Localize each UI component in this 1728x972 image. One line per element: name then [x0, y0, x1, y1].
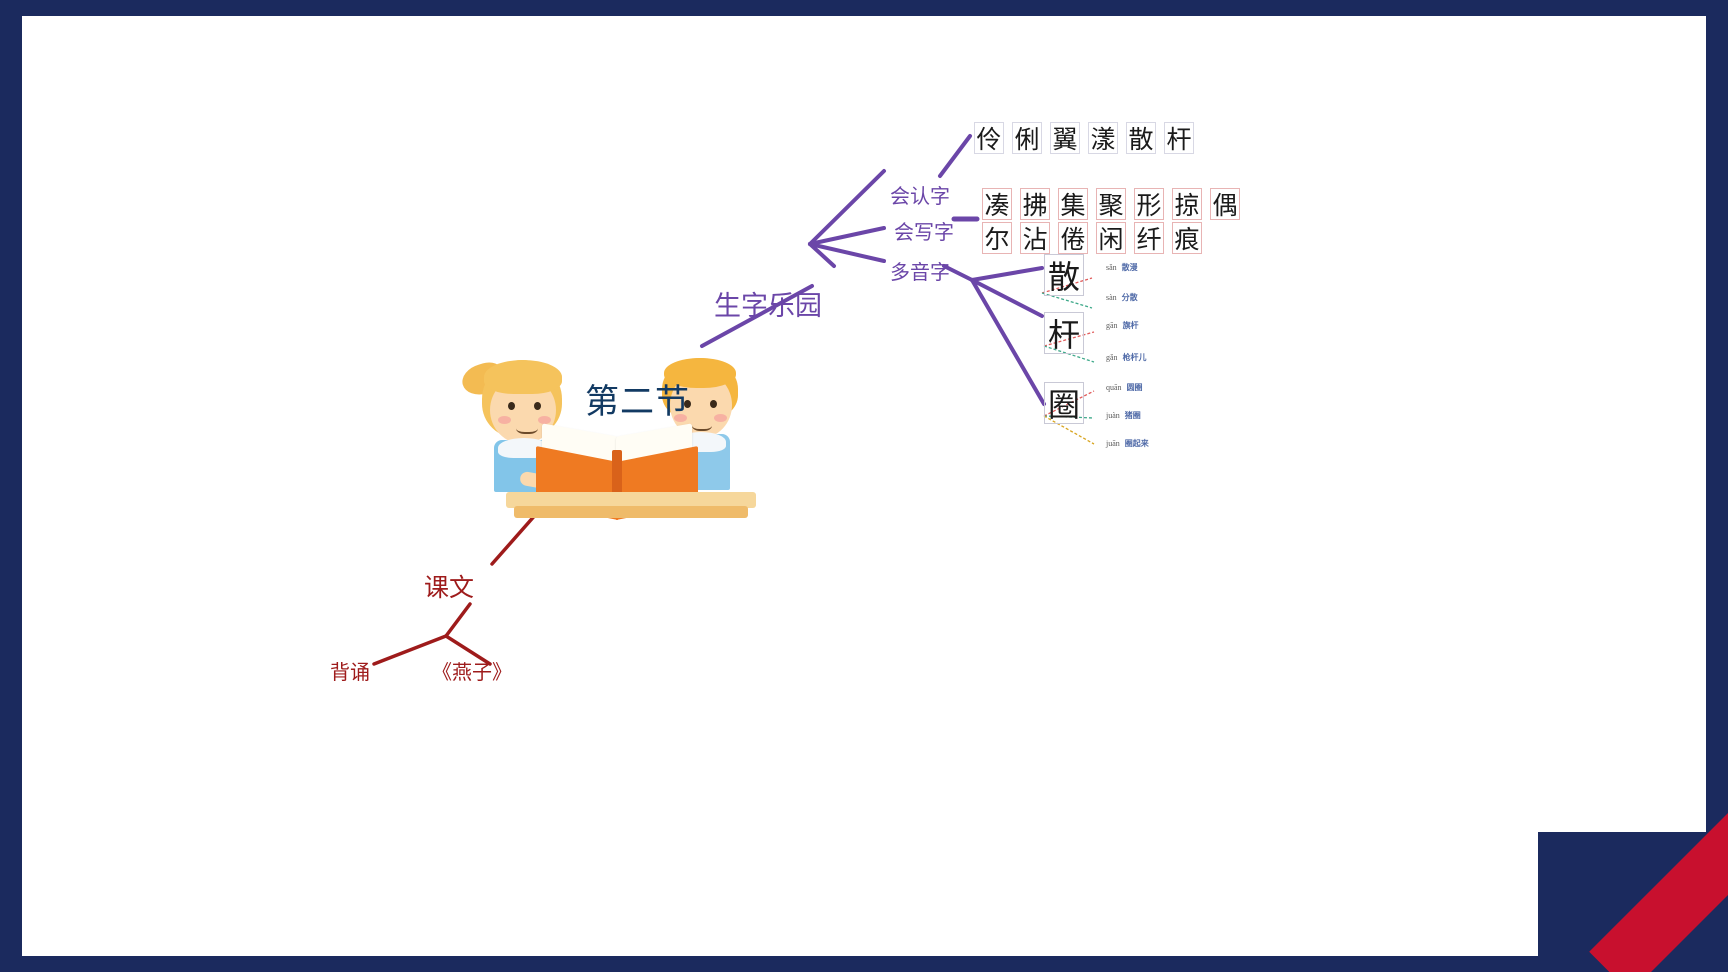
char-cell: 尔	[982, 222, 1012, 254]
branch-label-yanzi: 《燕子》	[432, 656, 512, 685]
pinyin-reading: gān旗杆	[1106, 320, 1139, 331]
pinyin-gloss: 圈起来	[1125, 439, 1149, 448]
illustration-kids-reading	[464, 346, 764, 526]
pinyin-text: juān	[1106, 439, 1120, 448]
char-cell: 漾	[1088, 122, 1118, 154]
branch-label-huixiezi: 会写字	[894, 216, 954, 245]
char-cell: 痕	[1172, 222, 1202, 254]
pinyin-gloss: 圆圈	[1127, 383, 1143, 392]
char-cell: 偶	[1210, 188, 1240, 220]
boy-cheek-right	[714, 414, 727, 422]
char-cell: 凑	[982, 188, 1012, 220]
char-cell: 闲	[1096, 222, 1126, 254]
polyphonic-char: 杆	[1044, 312, 1084, 354]
pinyin-text: sàn	[1106, 293, 1117, 302]
write-char-row-1: 凑 拂 集 聚 形 掠 偶	[982, 188, 1248, 220]
branch-label-beisong: 背诵	[330, 656, 370, 685]
desk-front	[514, 506, 748, 518]
pinyin-gloss: 猪圈	[1125, 411, 1141, 420]
polyphonic-group-san: 散 sǎn散漫 sàn分散	[1044, 254, 1092, 296]
page-title: 第二节	[585, 374, 690, 423]
pinyin-reading: juàn猪圈	[1106, 410, 1141, 421]
char-cell: 集	[1058, 188, 1088, 220]
char-cell: 聚	[1096, 188, 1126, 220]
char-cell: 掠	[1172, 188, 1202, 220]
branch-label-duoyinzi: 多音字	[890, 256, 950, 285]
pinyin-reading: juān圈起来	[1106, 438, 1149, 449]
boy-mouth	[692, 418, 712, 431]
polyphonic-char: 散	[1044, 254, 1084, 296]
slide-frame: 第二节 生字乐园 会认字 会写字 多音字 课文 背诵 《燕子》 伶 俐 翼 漾 …	[0, 0, 1728, 972]
mindmap-connectors	[22, 16, 1706, 956]
pinyin-reading: gǎn枪杆儿	[1106, 352, 1147, 363]
pinyin-gloss: 枪杆儿	[1123, 353, 1147, 362]
pinyin-reading: sàn分散	[1106, 292, 1138, 303]
girl-eye-right	[534, 402, 541, 410]
pinyin-gloss: 旗杆	[1123, 321, 1139, 330]
pinyin-reading: quān圆圈	[1106, 382, 1143, 393]
girl-mouth	[516, 420, 538, 434]
branch-label-kewen: 课文	[424, 568, 474, 604]
char-cell: 拂	[1020, 188, 1050, 220]
char-cell: 俐	[1012, 122, 1042, 154]
recognize-char-row: 伶 俐 翼 漾 散 杆	[974, 122, 1202, 154]
char-cell: 形	[1134, 188, 1164, 220]
char-cell: 纤	[1134, 222, 1164, 254]
pinyin-gloss: 分散	[1122, 293, 1138, 302]
branch-label-huirenzi: 会认字	[890, 180, 950, 209]
pinyin-text: juàn	[1106, 411, 1120, 420]
girl-bangs	[484, 360, 562, 394]
pinyin-text: gǎn	[1106, 353, 1118, 362]
char-cell: 散	[1126, 122, 1156, 154]
girl-eye-left	[508, 402, 515, 410]
char-cell: 伶	[974, 122, 1004, 154]
polyphonic-group-gan: 杆 gān旗杆 gǎn枪杆儿	[1044, 312, 1092, 354]
pinyin-gloss: 散漫	[1122, 263, 1138, 272]
pinyin-text: gān	[1106, 321, 1118, 330]
char-cell: 沾	[1020, 222, 1050, 254]
polyphonic-group-quan: 圈 quān圆圈 juàn猪圈 juān圈起来	[1044, 382, 1092, 424]
char-cell: 杆	[1164, 122, 1194, 154]
write-char-row-2: 尔 沾 倦 闲 纤 痕	[982, 222, 1210, 254]
polyphonic-char: 圈	[1044, 382, 1084, 424]
pinyin-text: quān	[1106, 383, 1122, 392]
pinyin-text: sǎn	[1106, 263, 1117, 272]
slide-canvas: 第二节 生字乐园 会认字 会写字 多音字 课文 背诵 《燕子》 伶 俐 翼 漾 …	[22, 16, 1706, 956]
char-cell: 翼	[1050, 122, 1080, 154]
char-cell: 倦	[1058, 222, 1088, 254]
girl-cheek-left	[498, 416, 511, 424]
pinyin-reading: sǎn散漫	[1106, 262, 1138, 273]
boy-eye-right	[710, 400, 717, 408]
branch-label-shengzi-leyuan: 生字乐园	[714, 284, 822, 323]
